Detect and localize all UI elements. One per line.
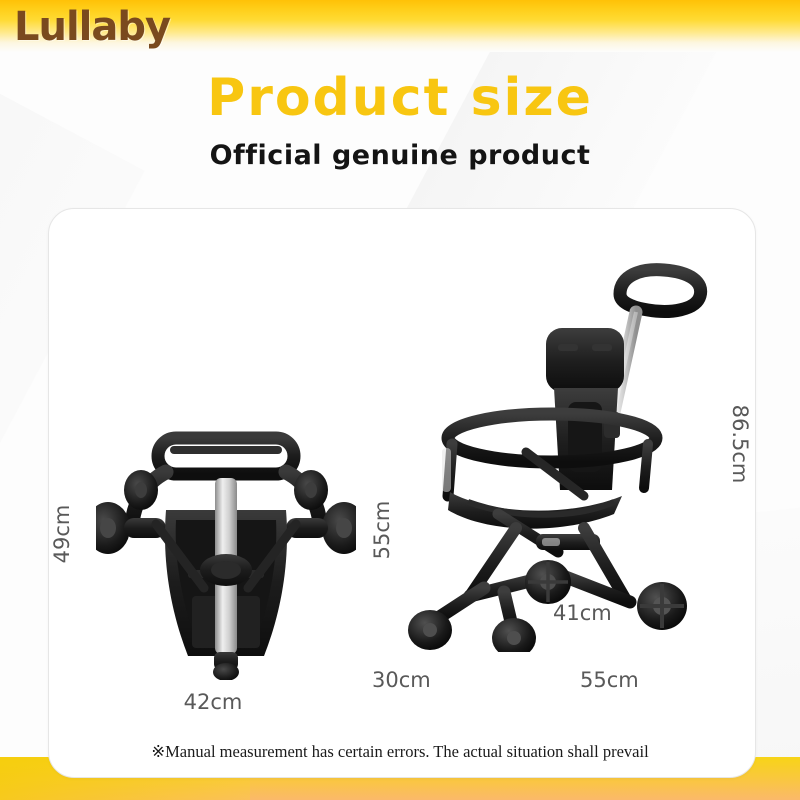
dim-label-length: 55cm: [580, 668, 639, 692]
page-subtitle: Official genuine product: [0, 140, 800, 171]
dim-label-total-height: 86.5cm: [728, 404, 752, 484]
product-size-infographic: Lullaby Product size Official genuine pr…: [0, 0, 800, 800]
dim-label-seat-height: 55cm: [370, 500, 394, 560]
dim-label-front-span: 41cm: [553, 601, 612, 625]
folded-stroller-image: [96, 420, 356, 680]
dim-label-left-height: 49cm: [50, 504, 74, 564]
open-stroller-image: [408, 252, 708, 652]
brand-logo: Lullaby: [14, 4, 170, 50]
page-title: Product size: [0, 68, 800, 128]
dim-label-depth: 30cm: [372, 668, 431, 692]
dim-label-left-width: 42cm: [115, 690, 311, 714]
footer-note: ※Manual measurement has certain errors. …: [0, 742, 800, 762]
